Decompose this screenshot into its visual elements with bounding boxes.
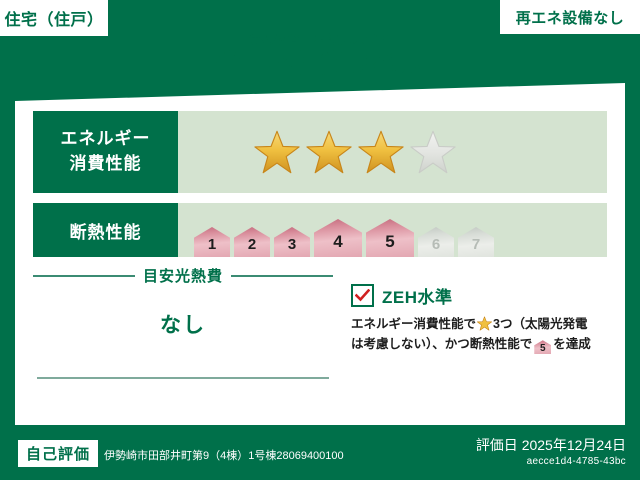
self-evaluation-badge: 自己評価 xyxy=(18,440,98,467)
zeh-desc-part1: エネルギー消費性能で xyxy=(351,317,476,331)
estimated-utility-cost-heading: 目安光熱費 xyxy=(33,265,333,286)
insulation-level-value: 6 xyxy=(432,236,440,257)
zeh-desc-star-count: 3つ（太陽光発電 xyxy=(493,317,587,331)
heading-rule-left xyxy=(33,275,135,277)
insulation-performance-label: 断熱性能 xyxy=(70,218,142,243)
evaluation-id: aecce1d4-4785-43bc xyxy=(527,456,626,467)
insulation-performance-row: 断熱性能 1 2 3 xyxy=(33,203,607,257)
zeh-block: ZEH水準 エネルギー消費性能で 3つ（太陽光発電 は考慮しない）、かつ断熱性能… xyxy=(351,283,623,355)
star-filled-icon xyxy=(477,316,492,331)
zeh-desc-part2: は考慮しない）、かつ断熱性能で xyxy=(351,337,532,351)
star-rating xyxy=(178,129,456,175)
insulation-level-3: 3 xyxy=(274,227,310,257)
lower-divider xyxy=(37,377,329,379)
insulation-scale: 1 2 3 4 5 xyxy=(178,203,494,257)
insulation-performance-value: 1 2 3 4 5 xyxy=(178,203,607,257)
energy-performance-label: 住宅（住戸） 再エネ設備なし 建築物省エネ法に基づく 省エネ性能ラベル エネルギ… xyxy=(0,0,640,480)
evaluation-date: 評価日 2025年12月24日 xyxy=(476,435,626,455)
building-type-tag: 住宅（住戸） xyxy=(0,0,108,36)
insulation-level-7: 7 xyxy=(458,227,494,257)
building-type-tag-label: 住宅（住戸） xyxy=(4,6,103,30)
insulation-level-5: 5 xyxy=(366,219,414,257)
star-filled-icon xyxy=(254,129,300,175)
estimated-utility-cost-value: なし xyxy=(33,309,333,339)
renewable-energy-tag: 再エネ設備なし xyxy=(500,0,640,34)
energy-performance-label-line2: 消費性能 xyxy=(70,152,142,177)
energy-performance-row: エネルギー 消費性能 xyxy=(33,111,607,193)
zeh-desc-house-value: 5 xyxy=(534,340,551,357)
renewable-energy-tag-label: 再エネ設備なし xyxy=(516,7,625,28)
insulation-performance-label-box: 断熱性能 xyxy=(33,203,178,257)
insulation-level-4: 4 xyxy=(314,219,362,257)
insulation-level-2: 2 xyxy=(234,227,270,257)
energy-performance-value xyxy=(178,111,607,193)
star-filled-icon xyxy=(358,129,404,175)
label-lower-section: 目安光熱費 なし ZEH水準 エネルギー消費性能で 3つ（太 xyxy=(33,265,623,405)
heading-rule-right xyxy=(231,275,333,277)
label-body-panel: エネルギー 消費性能 xyxy=(15,83,625,425)
insulation-level-value: 3 xyxy=(288,236,296,257)
zeh-description: エネルギー消費性能で 3つ（太陽光発電 は考慮しない）、かつ断熱性能で 5 を達… xyxy=(351,314,623,355)
estimated-utility-cost-label: 目安光熱費 xyxy=(143,265,223,286)
zeh-title: ZEH水準 xyxy=(382,283,453,308)
insulation-level-value: 2 xyxy=(248,236,256,257)
insulation-level-value: 1 xyxy=(208,236,216,257)
insulation-level-value: 7 xyxy=(472,236,480,257)
property-address: 伊勢崎市田部井町第9（4棟）1号棟28069400100 xyxy=(104,447,344,463)
zeh-heading: ZEH水準 xyxy=(351,283,623,308)
energy-performance-label-box: エネルギー 消費性能 xyxy=(33,111,178,193)
zeh-desc-part3: を達成 xyxy=(553,337,591,351)
label-footer: 自己評価 伊勢崎市田部井町第9（4棟）1号棟28069400100 評価日 20… xyxy=(0,430,640,480)
insulation-level-1: 1 xyxy=(194,227,230,257)
evaluation-date-label: 評価日 xyxy=(476,437,518,453)
check-icon xyxy=(355,289,370,302)
label-title: 省エネ性能ラベル xyxy=(0,49,640,80)
evaluation-date-value: 2025年12月24日 xyxy=(522,437,626,453)
insulation-level-value: 4 xyxy=(333,232,342,257)
insulation-level-6: 6 xyxy=(418,227,454,257)
zeh-checkbox[interactable] xyxy=(351,284,374,307)
energy-performance-label-line1: エネルギー xyxy=(61,127,151,152)
house-icon: 5 xyxy=(534,340,551,354)
insulation-level-value: 5 xyxy=(385,232,394,257)
star-empty-icon xyxy=(410,129,456,175)
label-subtitle: 建築物省エネ法に基づく xyxy=(0,34,640,48)
star-filled-icon xyxy=(306,129,352,175)
